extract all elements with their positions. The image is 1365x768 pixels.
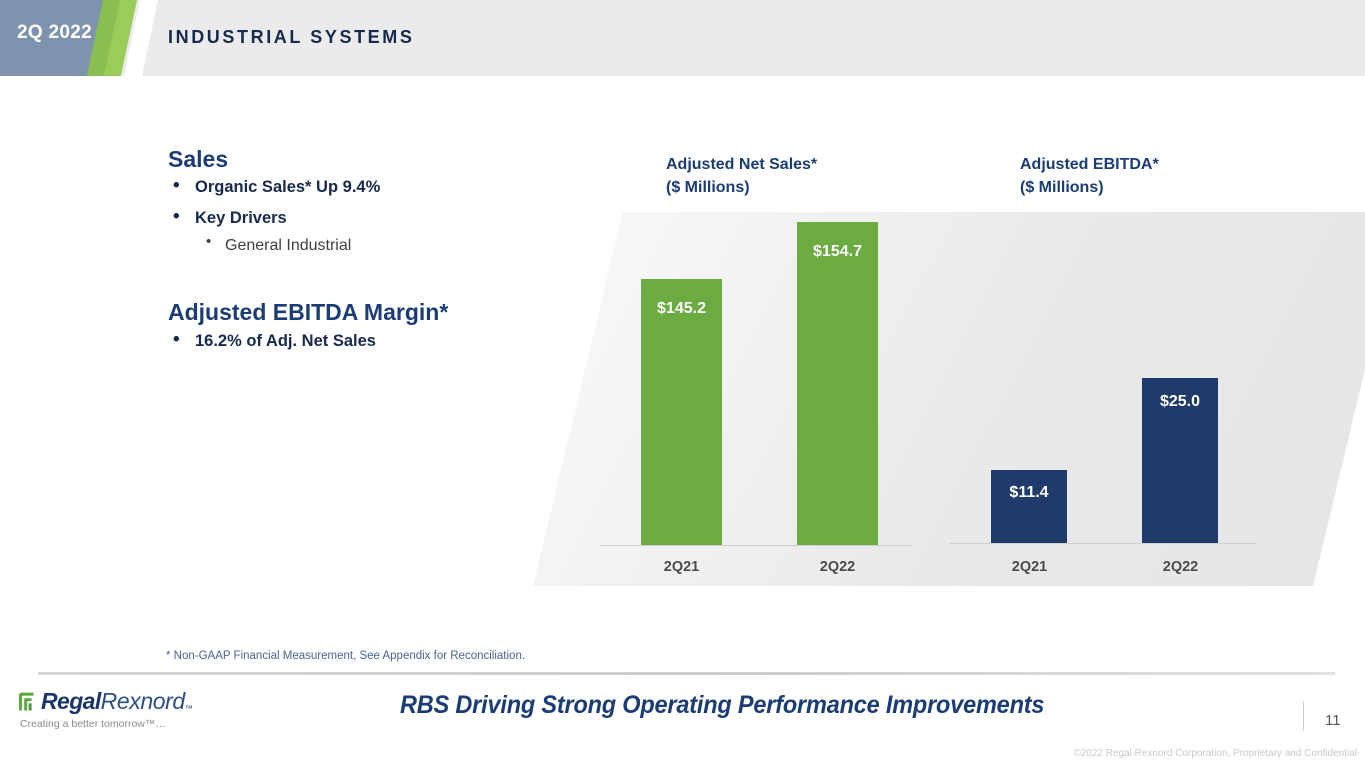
copyright-notice: ©2022 Regal Rexnord Corporation, Proprie… <box>1073 748 1357 759</box>
footnote-non-gaap: * Non-GAAP Financial Measurement, See Ap… <box>166 650 525 662</box>
chart-title-line1: Adjusted EBITDA* <box>1020 153 1159 176</box>
x-label-net-sales-2q22: 2Q22 <box>797 559 878 575</box>
chart-axis-ebitda <box>950 543 1256 544</box>
chart-axis-net-sales <box>600 545 912 546</box>
bar-net-sales-2q22: $154.7 <box>797 222 878 545</box>
page-number-divider <box>1303 701 1304 731</box>
bar-value-label: $11.4 <box>991 484 1067 502</box>
chart-title-ebitda: Adjusted EBITDA* ($ Millions) <box>1020 153 1159 199</box>
bar-value-label: $25.0 <box>1142 393 1218 411</box>
bar-value-label: $154.7 <box>797 243 878 261</box>
bar-ebitda-2q22: $25.0 <box>1142 378 1218 543</box>
x-label-ebitda-2q22: 2Q22 <box>1140 559 1221 575</box>
regal-rexnord-logo: Regal Rexnord ™ Creating a better tomorr… <box>18 690 218 730</box>
chart-title-line2: ($ Millions) <box>666 176 817 199</box>
bar-ebitda-2q21: $11.4 <box>991 470 1067 543</box>
logo-trademark-symbol: ™ <box>185 704 193 713</box>
logo-text-rexnord: Rexnord <box>101 690 185 713</box>
page-number: 11 <box>1325 712 1341 729</box>
bar-value-label: $145.2 <box>641 300 722 318</box>
logo-tagline: Creating a better tomorrow™… <box>20 718 218 730</box>
chart-title-line1: Adjusted Net Sales* <box>666 153 817 176</box>
x-label-net-sales-2q21: 2Q21 <box>641 559 722 575</box>
footer-divider-line <box>38 672 1335 675</box>
regal-rexnord-logo-mark <box>18 692 40 713</box>
logo-text-regal: Regal <box>41 690 101 713</box>
x-label-ebitda-2q21: 2Q21 <box>989 559 1070 575</box>
chart-title-net-sales: Adjusted Net Sales* ($ Millions) <box>666 153 817 199</box>
bar-net-sales-2q21: $145.2 <box>641 279 722 545</box>
footer-headline: RBS Driving Strong Operating Performance… <box>400 691 1058 720</box>
slide: 2Q 2022 INDUSTRIAL SYSTEMS Sales Organic… <box>0 0 1365 768</box>
chart-title-line2: ($ Millions) <box>1020 176 1159 199</box>
